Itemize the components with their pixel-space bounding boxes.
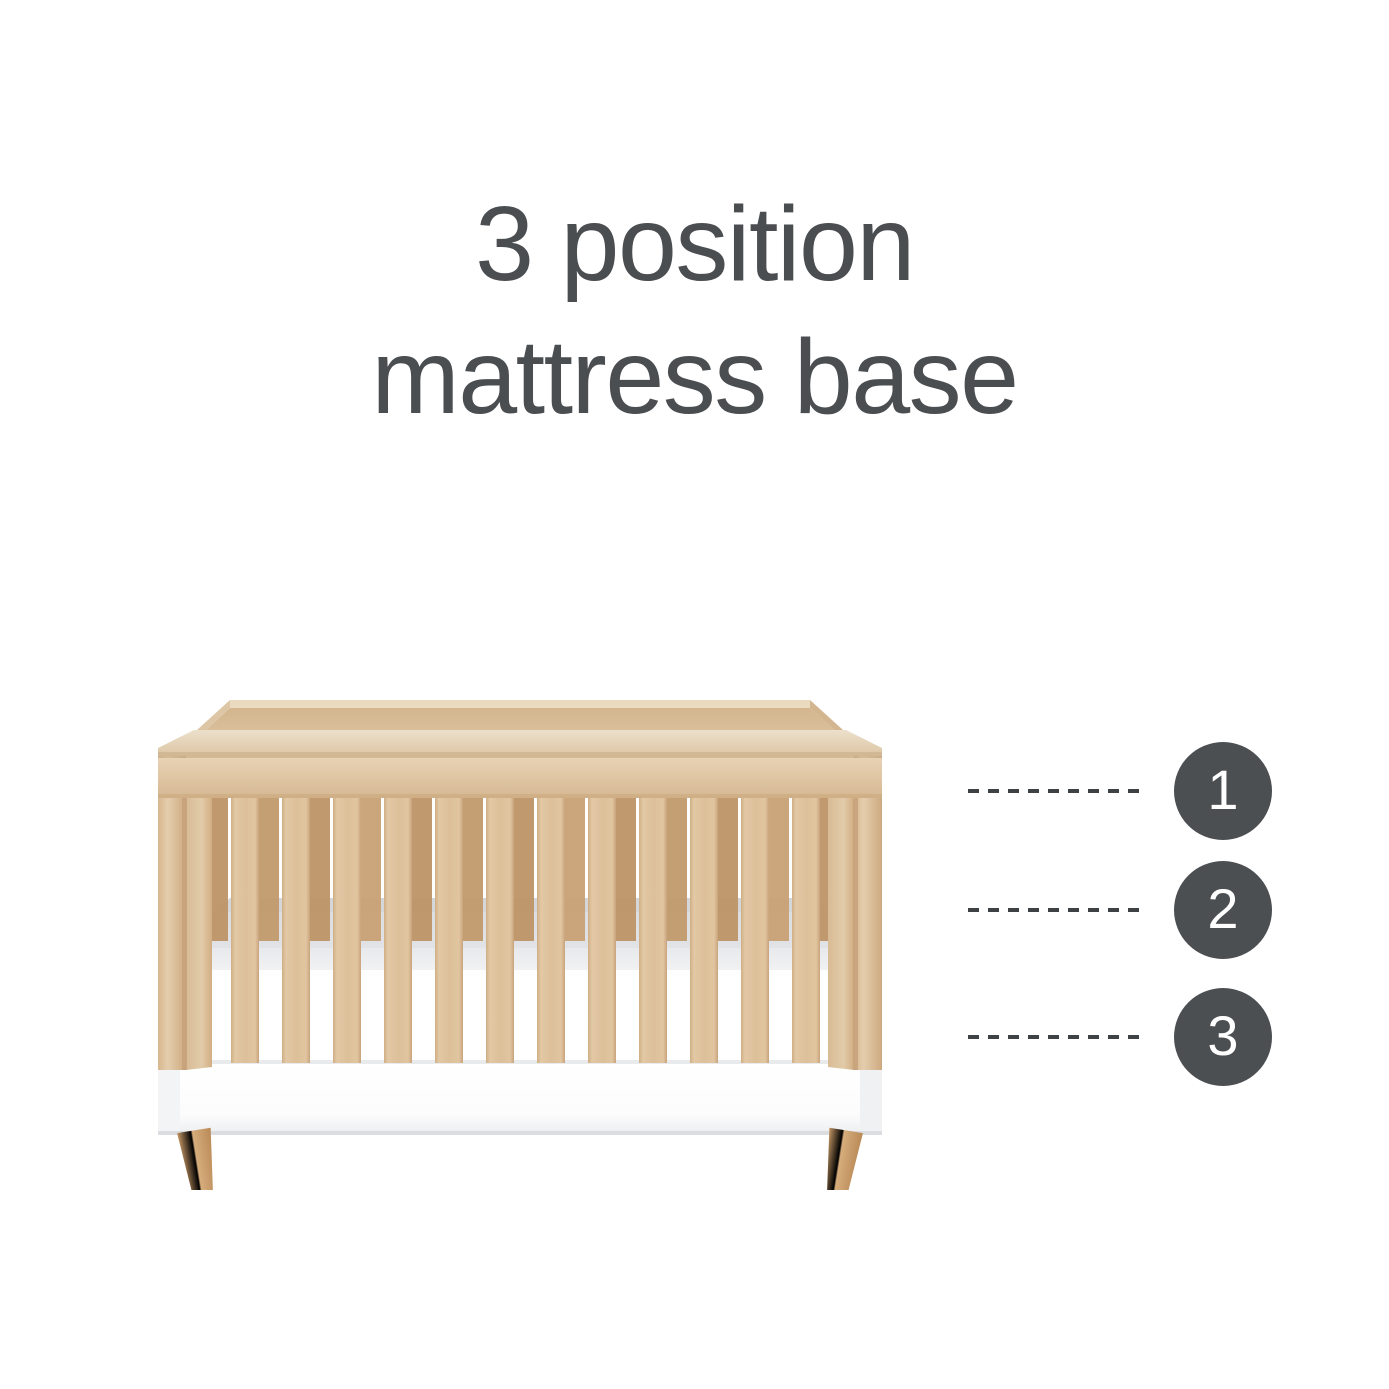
leader-line-1 [968,789,1144,793]
crib-top-rail [158,700,882,798]
badge-position-1: 1 [1174,742,1272,840]
crib-leg-left [177,1128,221,1190]
callout-position-1: 1 [968,742,1272,840]
crib-leg-right [819,1128,863,1190]
infographic-canvas: 3 position mattress base [0,0,1389,1389]
badge-position-2: 2 [1174,861,1272,959]
leader-line-3 [968,1035,1144,1039]
callout-position-2: 2 [968,861,1272,959]
page-title: 3 position mattress base [0,178,1389,444]
crib-base-panel [158,1060,882,1135]
crib-legs [177,1128,863,1190]
crib-illustration [120,630,920,1190]
badge-position-3: 3 [1174,988,1272,1086]
leader-line-2 [968,908,1144,912]
callout-position-3: 3 [968,988,1272,1086]
